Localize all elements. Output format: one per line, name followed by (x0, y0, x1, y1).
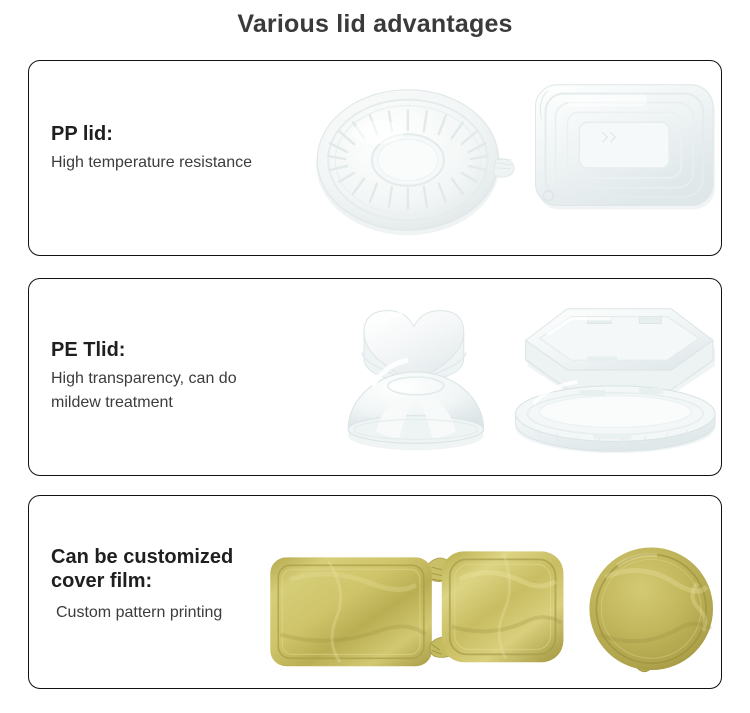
gold-rectangular-foil-lid-image (270, 557, 453, 666)
page-title: Various lid advantages (0, 10, 750, 39)
card-pe-subtext: High transparency, can do mildew treatme… (51, 367, 237, 415)
card-pe-heading: PE Tlid: (51, 339, 237, 363)
rectangular-pp-lid-image (536, 85, 715, 210)
square-pe-lid-image (526, 309, 715, 394)
card-pe-lid: PE Tlid: High transparency, can do milde… (28, 278, 722, 476)
card-pp-text-block: PP lid: High temperature resistance (51, 123, 252, 175)
card-film-heading: Can be customized cover film: (51, 546, 233, 593)
oval-pe-lid-image (516, 382, 715, 453)
card-cover-film: Can be customized cover film: Custom pat… (28, 495, 722, 689)
gold-round-foil-lid-image (589, 547, 713, 671)
card-film-subtext: Custom pattern printing (51, 601, 233, 625)
card-pp-lid: PP lid: High temperature resistance (28, 60, 722, 256)
dome-pe-lid-image (348, 360, 484, 450)
round-pp-lid-image (316, 90, 514, 236)
card-pp-subtext: High temperature resistance (51, 151, 252, 175)
gold-square-foil-lid-image (430, 551, 564, 662)
card-film-text-block: Can be customized cover film: Custom pat… (51, 546, 233, 625)
card-pe-text-block: PE Tlid: High transparency, can do milde… (51, 339, 237, 415)
heart-shaped-pe-lid-image (362, 311, 466, 396)
card-pp-heading: PP lid: (51, 123, 252, 147)
